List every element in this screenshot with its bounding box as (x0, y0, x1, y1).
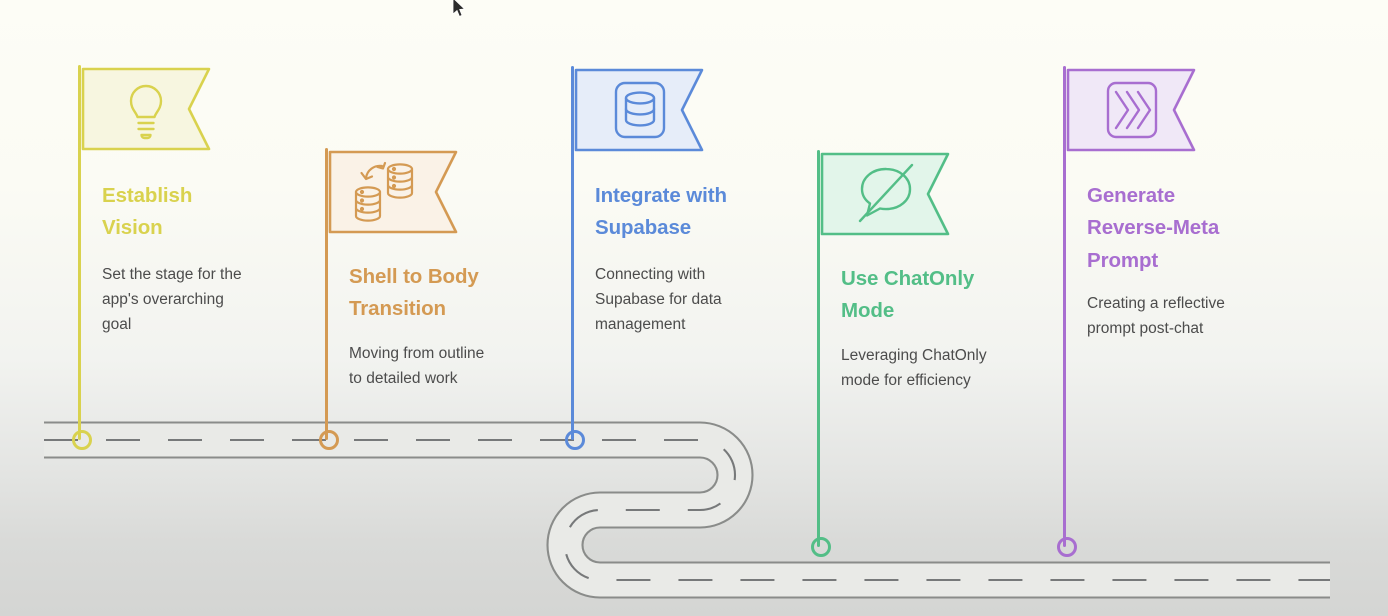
milestone-title: Establish Vision (102, 180, 192, 245)
flag-banner (820, 150, 952, 238)
marker-ring-shell-to-body-transition (321, 432, 338, 449)
marker-ring-generate-reverse-meta-prompt (1059, 539, 1076, 556)
milestone-description: Connecting with Supabase for data manage… (595, 262, 795, 337)
marker-ring-establish-vision (74, 432, 91, 449)
flag-banner (81, 65, 213, 153)
milestone-title: Use ChatOnly Mode (841, 263, 974, 328)
roadmap-canvas: Establish Vision Set the stage for the a… (0, 0, 1388, 616)
flag-banner (328, 148, 460, 236)
flag-banner (574, 66, 706, 154)
flag-banner (1066, 66, 1198, 154)
milestone-description: Leveraging ChatOnly mode for efficiency (841, 343, 1041, 393)
milestone-title: Shell to Body Transition (349, 261, 479, 326)
milestone-description: Moving from outline to detailed work (349, 341, 549, 391)
marker-ring-use-chatonly-mode (813, 539, 830, 556)
marker-ring-integrate-with-supabase (567, 432, 584, 449)
milestone-description: Creating a reflective prompt post-chat (1087, 291, 1287, 341)
milestone-title: Integrate with Supabase (595, 180, 727, 245)
milestone-description: Set the stage for the app's overarching … (102, 262, 302, 337)
mouse-pointer-icon (452, 0, 466, 18)
milestone-title: Generate Reverse-Meta Prompt (1087, 180, 1219, 277)
